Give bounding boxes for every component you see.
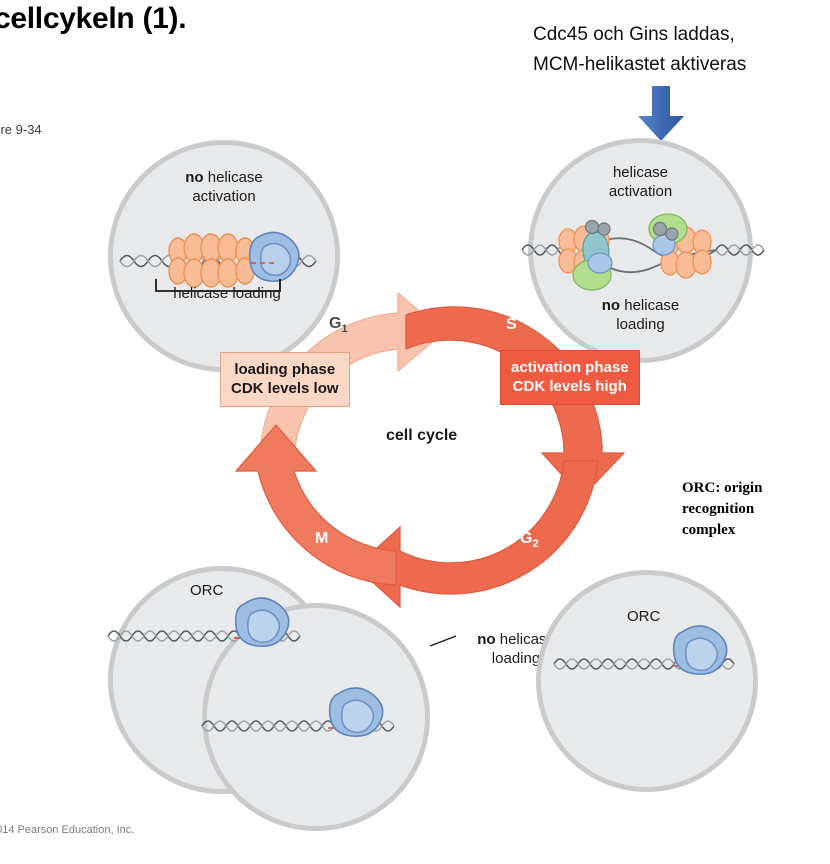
phase-label-m: M xyxy=(315,530,328,548)
cell-s-title-line2: activation xyxy=(528,182,753,201)
cell-g1-title-line2: activation xyxy=(108,187,340,206)
phase-label-g2-sub: 2 xyxy=(532,538,538,550)
cell-cycle-arrows xyxy=(230,285,630,605)
phase-box-activation-line2: CDK levels high xyxy=(511,377,629,396)
phase-box-loading-line1: loading phase xyxy=(231,360,339,379)
figure-reference: gure 9-34 xyxy=(0,122,42,137)
phase-label-g2: G2 xyxy=(520,530,539,550)
phase-label-s: S xyxy=(506,316,517,334)
phase-label-g1-text: G xyxy=(329,315,341,332)
orc-legend-line-1: ORC: origin xyxy=(682,478,762,499)
phase-label-g2-text: G xyxy=(520,530,532,547)
cell-g1-title-rest: helicase xyxy=(204,169,263,186)
phase-box-loading-line2: CDK levels low xyxy=(231,379,339,398)
orc-legend-line-2: recognition xyxy=(682,499,762,520)
page-title: cellcykeln (1). xyxy=(0,2,186,36)
down-arrow-icon xyxy=(632,86,690,142)
no-helicase-loading-bold: no xyxy=(477,631,495,648)
callout-annotation: Cdc45 och Gins laddas, MCM-helikastet ak… xyxy=(533,20,746,80)
cell-s-title: helicase activation xyxy=(528,163,753,201)
phase-box-loading: loading phase CDK levels low xyxy=(220,352,350,407)
cell-cycle-center-label: cell cycle xyxy=(386,427,457,445)
callout-line-2: MCM-helikastet aktiveras xyxy=(533,50,746,80)
helicase-loading-illustration xyxy=(114,215,336,295)
phase-label-g1-sub: 1 xyxy=(341,323,347,335)
phase-box-activation: activation phase CDK levels high xyxy=(500,350,640,405)
orc-dna-illustration-m-1 xyxy=(104,610,324,658)
callout-line-1: Cdc45 och Gins laddas, xyxy=(533,20,746,50)
orc-dna-illustration-g2 xyxy=(550,638,760,686)
orc-dna-illustration-m-2 xyxy=(198,700,418,748)
orc-legend-line-3: complex xyxy=(682,520,762,541)
phase-box-activation-line1: activation phase xyxy=(511,358,629,377)
cell-s-title-line1: helicase xyxy=(528,163,753,182)
cell-g1-title: no helicase activation xyxy=(108,168,340,206)
orc-legend: ORC: origin recognition complex xyxy=(682,478,762,541)
copyright-notice: 2014 Pearson Education, Inc. xyxy=(0,824,134,836)
cell-g1-title-bold: no xyxy=(185,169,203,186)
phase-label-g1: G1 xyxy=(329,315,348,335)
orc-label-m: ORC xyxy=(190,582,223,599)
orc-label-g2: ORC xyxy=(627,608,660,625)
